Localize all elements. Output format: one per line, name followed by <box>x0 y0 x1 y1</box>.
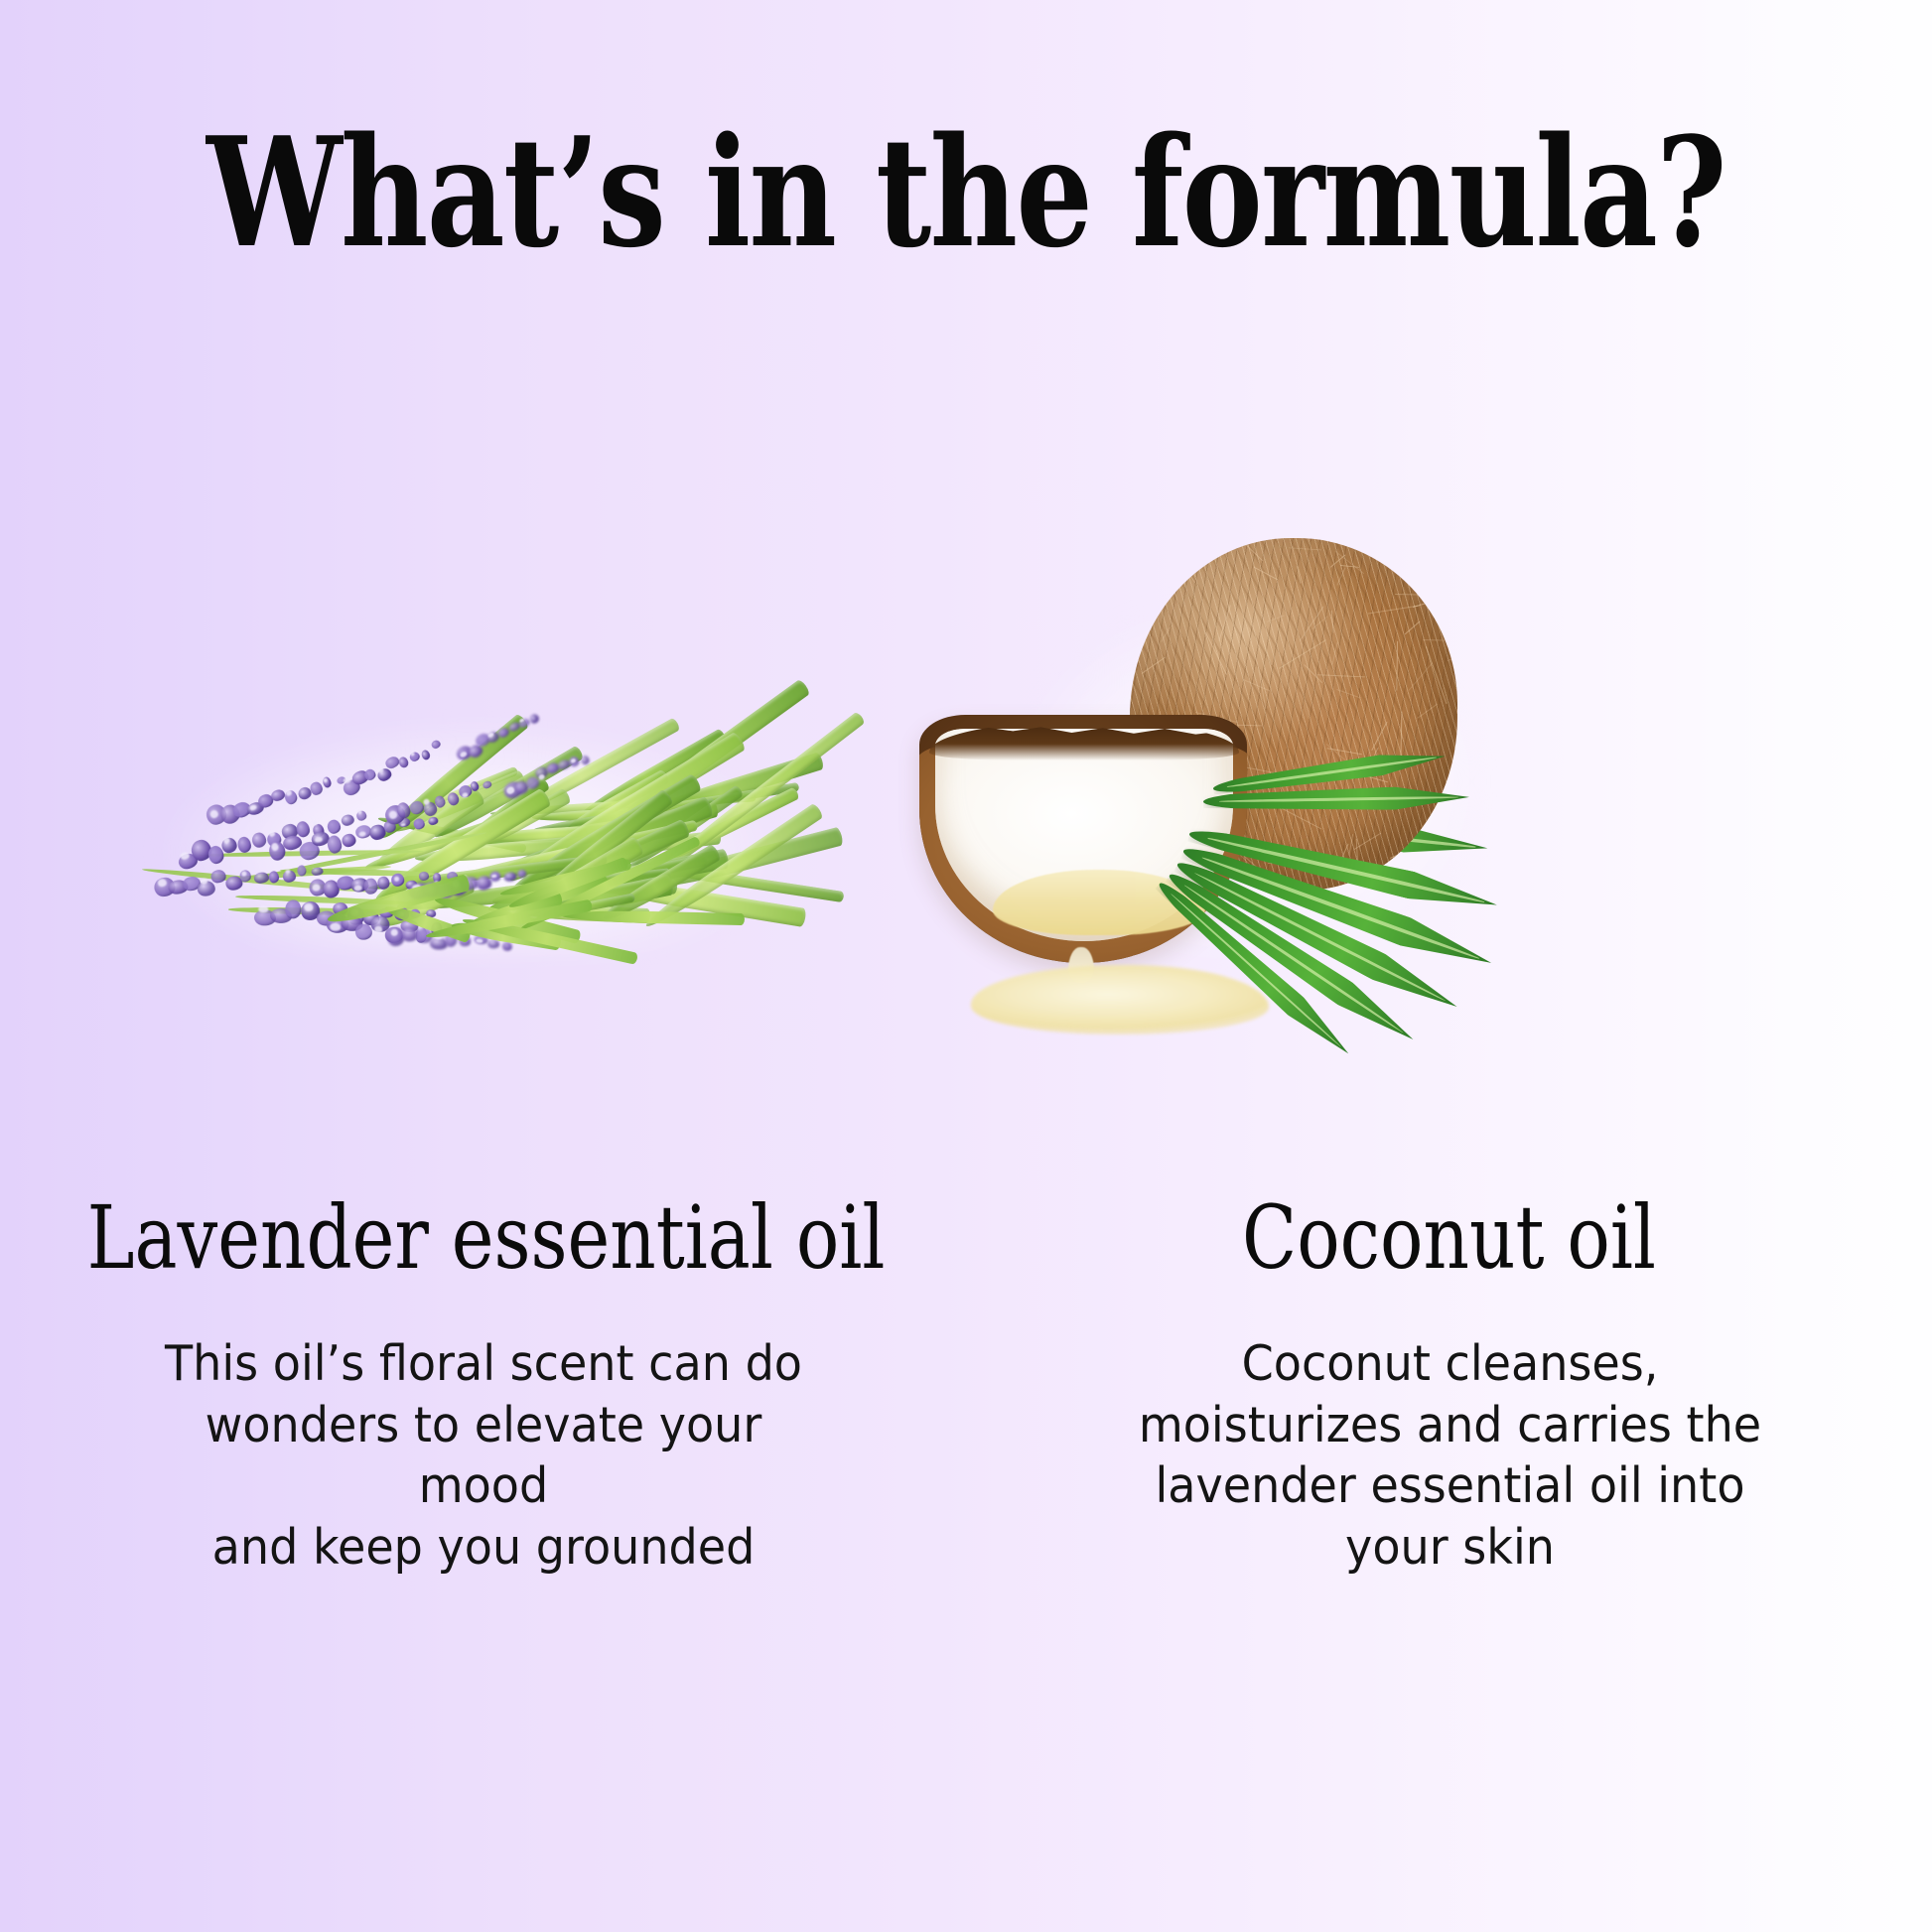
lavender-floret <box>446 791 460 806</box>
coconut-shell-rim <box>929 721 1239 760</box>
poster-canvas: What’s in the formula? Lavender essentia… <box>0 0 1932 1932</box>
lavender-floret <box>516 869 526 879</box>
lavender-floret <box>397 756 410 768</box>
desc-line: lavender essential oil into <box>1121 1455 1779 1517</box>
lavender-illustration <box>60 596 844 943</box>
lavender-floret <box>236 836 253 854</box>
lavender-floret <box>483 780 492 789</box>
lavender-floret-highlight <box>241 871 246 876</box>
lavender-floret-highlight <box>477 939 483 944</box>
lavender-floret-highlight <box>330 923 341 931</box>
lavender-floret <box>327 835 344 855</box>
lavender-floret <box>285 899 301 919</box>
lavender-floret <box>363 878 378 895</box>
lavender-floret <box>420 749 431 761</box>
lavender-floret <box>254 872 270 884</box>
ingredient-card-lavender: Lavender essential oil This oil’s floral… <box>0 0 966 1932</box>
desc-line: Coconut cleanses, <box>1121 1333 1779 1395</box>
ingredient-description-lavender: This oil’s floral scent can do wonders t… <box>149 1333 819 1579</box>
lavender-floret <box>355 923 373 940</box>
lavender-floret <box>210 869 227 883</box>
lavender-floret <box>430 739 442 750</box>
ingredient-name-lavender: Lavender essential oil <box>87 1194 880 1282</box>
desc-line: wonders to elevate your mood <box>149 1395 819 1517</box>
lavender-floret <box>268 871 280 885</box>
lavender-floret <box>501 941 512 951</box>
lavender-floret-highlight <box>305 903 313 911</box>
desc-line: your skin <box>1121 1517 1779 1579</box>
lavender-floret <box>311 867 323 876</box>
lavender-floret <box>251 831 268 849</box>
lavender-floret-highlight <box>462 792 469 798</box>
lavender-floret-highlight <box>374 926 383 933</box>
coconut-illustration <box>894 516 1489 983</box>
lavender-floret <box>377 876 390 889</box>
lavender-floret <box>580 755 591 765</box>
desc-line: and keep you grounded <box>149 1517 819 1579</box>
lavender-floret-highlight <box>258 906 268 913</box>
ingredient-description-coconut: Coconut cleanses, moisturizes and carrie… <box>1121 1333 1779 1579</box>
lavender-floret-highlight <box>312 884 320 891</box>
lavender-floret <box>341 833 356 849</box>
desc-line: This oil’s floral scent can do <box>149 1333 819 1395</box>
ingredient-name-coconut: Coconut oil <box>1053 1194 1846 1282</box>
desc-line: moisturizes and carries the <box>1121 1395 1779 1456</box>
lavender-floret <box>528 713 540 725</box>
oil-puddle <box>971 965 1269 1035</box>
lavender-floret <box>503 872 517 883</box>
